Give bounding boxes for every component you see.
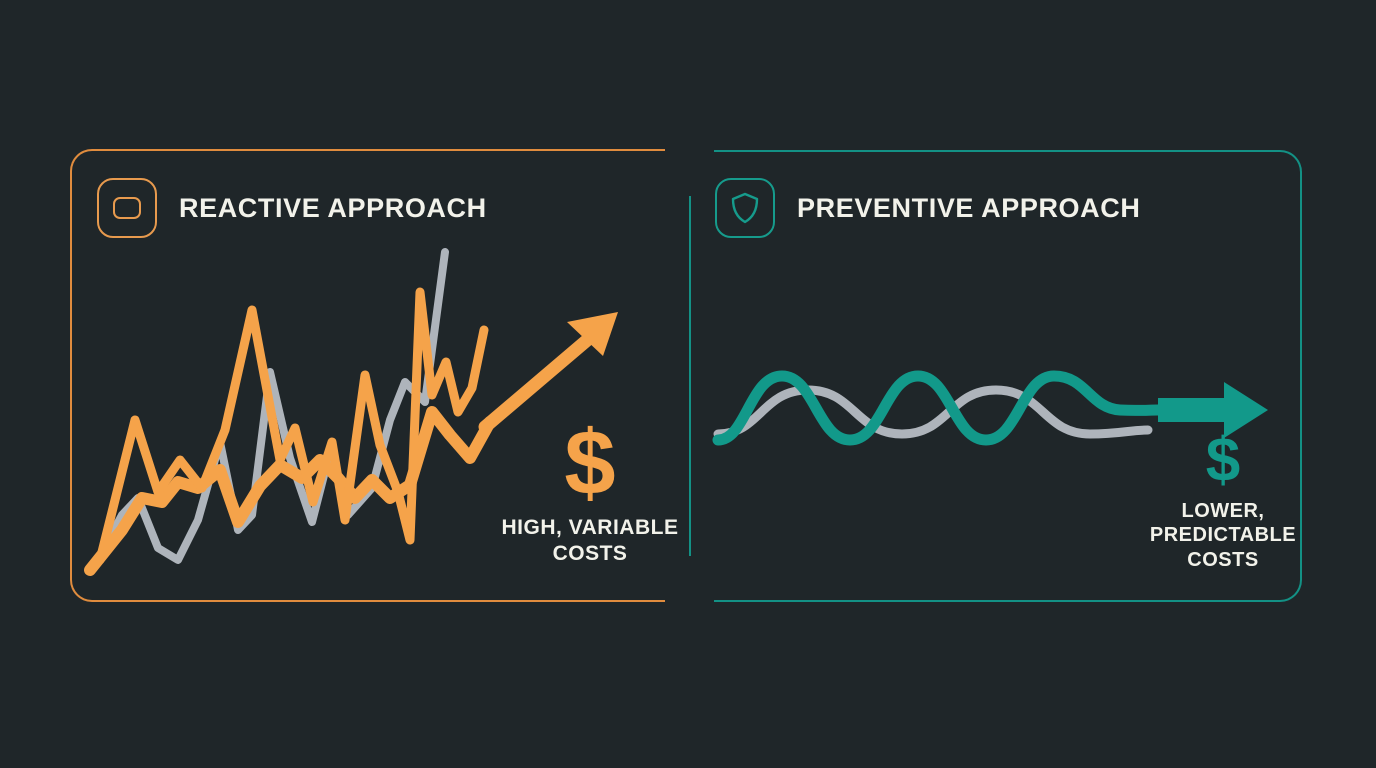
preventive-panel-title: PREVENTIVE APPROACH bbox=[797, 193, 1140, 224]
reactive-cost-callout: $ HIGH, VARIABLE COSTS bbox=[490, 420, 690, 567]
reactive-panel-header: REACTIVE APPROACH bbox=[97, 178, 487, 238]
preventive-cost-callout: $ LOWER, PREDICTABLE COSTS bbox=[1128, 432, 1318, 572]
dollar-sign-icon: $ bbox=[1128, 432, 1318, 491]
rounded-square-inner-icon bbox=[113, 197, 141, 219]
reactive-cost-label-line-1: HIGH, VARIABLE bbox=[490, 515, 690, 541]
preventive-cost-label-line-3: COSTS bbox=[1128, 548, 1318, 572]
reactive-cost-label: HIGH, VARIABLE COSTS bbox=[490, 515, 690, 566]
preventive-cost-label-line-2: PREDICTABLE bbox=[1128, 523, 1318, 547]
shield-glyph-icon bbox=[730, 191, 760, 225]
preventive-cost-label-line-1: LOWER, bbox=[1128, 499, 1318, 523]
reactive-cost-label-line-2: COSTS bbox=[490, 541, 690, 567]
center-divider bbox=[689, 196, 691, 556]
dollar-sign-icon: $ bbox=[490, 420, 690, 507]
gray-wave bbox=[718, 390, 1148, 434]
rounded-square-icon bbox=[97, 178, 157, 238]
preventive-panel-header: PREVENTIVE APPROACH bbox=[715, 178, 1140, 238]
shield-icon bbox=[715, 178, 775, 238]
trend-arrow-icon bbox=[485, 312, 618, 427]
preventive-cost-label: LOWER, PREDICTABLE COSTS bbox=[1128, 499, 1318, 572]
reactive-panel-title: REACTIVE APPROACH bbox=[179, 193, 487, 224]
infographic-canvas: REACTIVE APPROACH $ HIGH, VARIABLE COSTS… bbox=[0, 0, 1376, 768]
